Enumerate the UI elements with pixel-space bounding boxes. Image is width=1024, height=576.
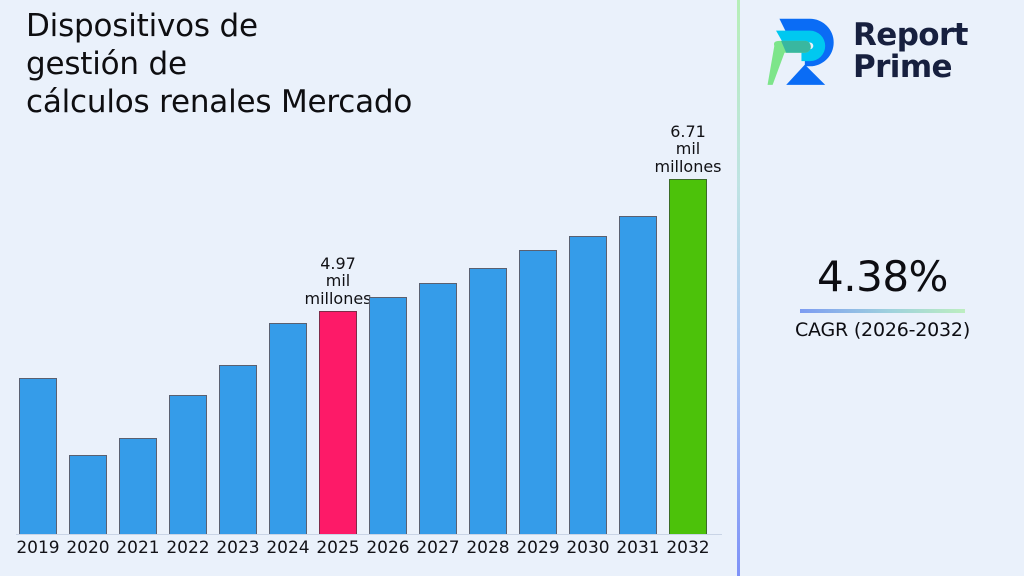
bar-value-label-2032: 6.71 mil millones — [640, 123, 736, 175]
bar-rect-2028[interactable] — [469, 268, 507, 534]
brand-panel: Report Prime 4.38% CAGR (2026-2032) — [741, 0, 1024, 576]
bar-chart: 4.97 mil millones6.71 mil millones 20192… — [0, 0, 738, 576]
chart-panel: Dispositivos de gestión de cálculos rena… — [0, 0, 738, 576]
bar-rect-2025[interactable] — [319, 311, 357, 534]
bar-rect-2031[interactable] — [619, 216, 657, 534]
bar-rect-2029[interactable] — [519, 250, 557, 534]
bar-rect-2032[interactable] — [669, 179, 707, 534]
report-prime-logo-mark — [767, 12, 841, 90]
cagr-value: 4.38% — [741, 252, 1024, 301]
x-axis-line — [16, 534, 722, 535]
brand-name: Report Prime — [853, 19, 968, 83]
bar-rect-2023[interactable] — [219, 365, 257, 534]
infographic-canvas: Dispositivos de gestión de cálculos rena… — [0, 0, 1024, 576]
bar-rect-2020[interactable] — [69, 455, 107, 534]
bar-rect-2022[interactable] — [169, 395, 207, 534]
bar-rect-2021[interactable] — [119, 438, 157, 534]
bar-rect-2030[interactable] — [569, 236, 607, 534]
bar-rect-2024[interactable] — [269, 323, 307, 534]
panel-divider — [737, 0, 740, 576]
cagr-caption: CAGR (2026-2032) — [741, 319, 1024, 341]
cagr-divider-rule — [800, 309, 965, 313]
cagr-block: 4.38% CAGR (2026-2032) — [741, 252, 1024, 341]
bar-rect-2027[interactable] — [419, 283, 457, 534]
report-prime-logo: Report Prime — [767, 12, 968, 90]
bar-rect-2019[interactable] — [19, 378, 57, 534]
bar-rect-2026[interactable] — [369, 297, 407, 534]
x-tick-2032: 2032 — [658, 538, 718, 558]
